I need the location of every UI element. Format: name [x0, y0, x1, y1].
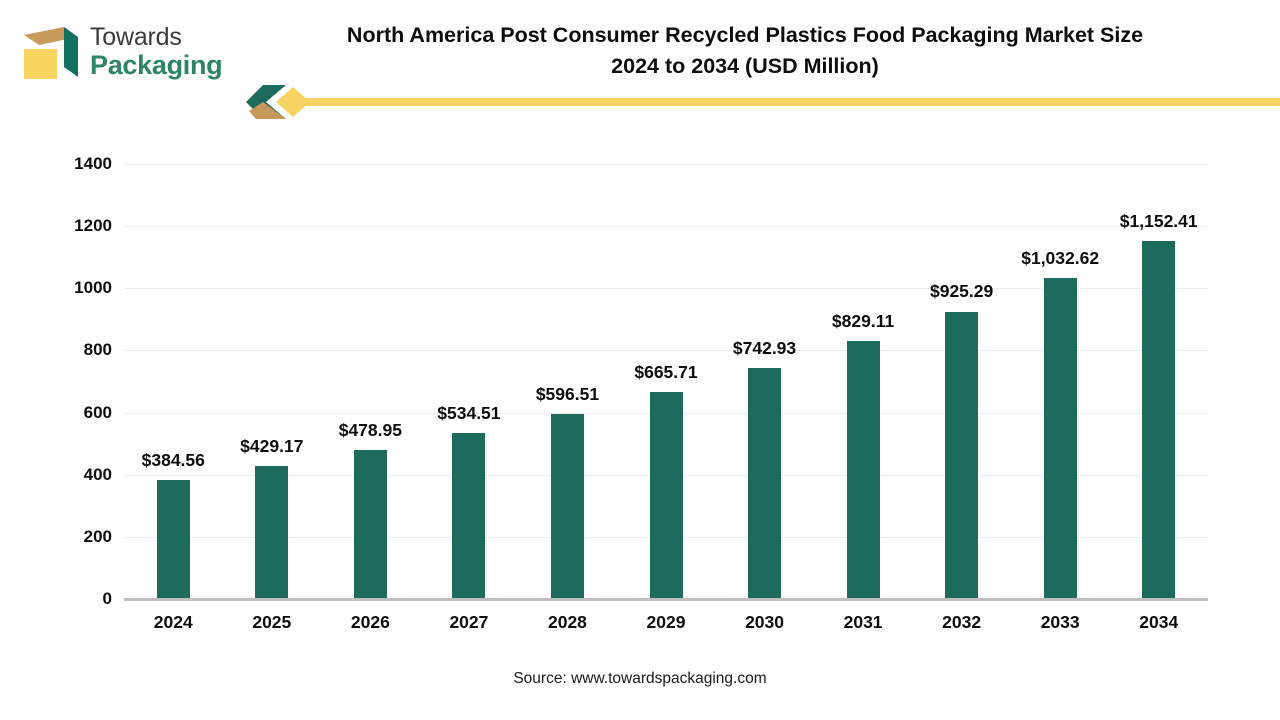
- bar-value-label: $1,152.41: [1089, 211, 1229, 232]
- source-note: Source: www.towardspackaging.com: [0, 670, 1280, 688]
- x-axis-tick-label: 2034: [1099, 612, 1219, 633]
- y-axis-tick-label: 1400: [34, 154, 112, 174]
- y-axis-tick-label: 400: [34, 465, 112, 485]
- y-axis-tick-label: 800: [34, 340, 112, 360]
- box-3d-logo-svg: [12, 17, 82, 87]
- bar-value-label: $665.71: [596, 362, 736, 383]
- bar[interactable]: [847, 341, 880, 599]
- bar[interactable]: [354, 450, 387, 599]
- y-axis-tick-label: 0: [34, 589, 112, 609]
- brand-line-towards: Towards: [90, 25, 222, 50]
- y-axis-tick-label: 600: [34, 403, 112, 423]
- y-axis-tick-label: 200: [34, 527, 112, 547]
- brand-wordmark: Towards Packaging: [90, 25, 222, 79]
- bar[interactable]: [945, 312, 978, 600]
- bar-value-label: $596.51: [497, 384, 637, 405]
- bar[interactable]: [255, 466, 288, 599]
- title-rule-svg: [246, 83, 1280, 121]
- page-title-line-2: 2024 to 2034 (USD Million): [250, 51, 1240, 82]
- page-title: North America Post Consumer Recycled Pla…: [250, 20, 1240, 81]
- bar[interactable]: [1142, 241, 1175, 599]
- bar[interactable]: [650, 392, 683, 599]
- bar[interactable]: [157, 480, 190, 599]
- y-axis-tick-label: 1200: [34, 216, 112, 236]
- bar-value-label: $534.51: [399, 403, 539, 424]
- bar[interactable]: [748, 368, 781, 599]
- brand-logo-block: Towards Packaging: [12, 14, 242, 90]
- bar-value-label: $1,032.62: [990, 248, 1130, 269]
- gridline: [124, 226, 1208, 227]
- bar-value-label: $925.29: [892, 281, 1032, 302]
- gridline: [124, 164, 1208, 165]
- x-axis-baseline: [124, 598, 1208, 601]
- bar-value-label: $742.93: [695, 338, 835, 359]
- bar[interactable]: [551, 414, 584, 599]
- y-axis: 0200400600800100012001400: [32, 164, 112, 599]
- bar-value-label: $829.11: [793, 311, 933, 332]
- chart-header: Towards Packaging North America Post Con…: [0, 0, 1280, 125]
- chart-plot-wrapper: 0200400600800100012001400 $384.562024$42…: [0, 125, 1280, 720]
- box-3d-logo-icon: [12, 17, 82, 87]
- brand-line-packaging: Packaging: [90, 52, 222, 79]
- page-title-line-1: North America Post Consumer Recycled Pla…: [250, 20, 1240, 51]
- y-axis-tick-label: 1000: [34, 278, 112, 298]
- chevron-diamond-rule-icon: [246, 83, 1280, 121]
- bar[interactable]: [452, 433, 485, 599]
- bar[interactable]: [1044, 278, 1077, 599]
